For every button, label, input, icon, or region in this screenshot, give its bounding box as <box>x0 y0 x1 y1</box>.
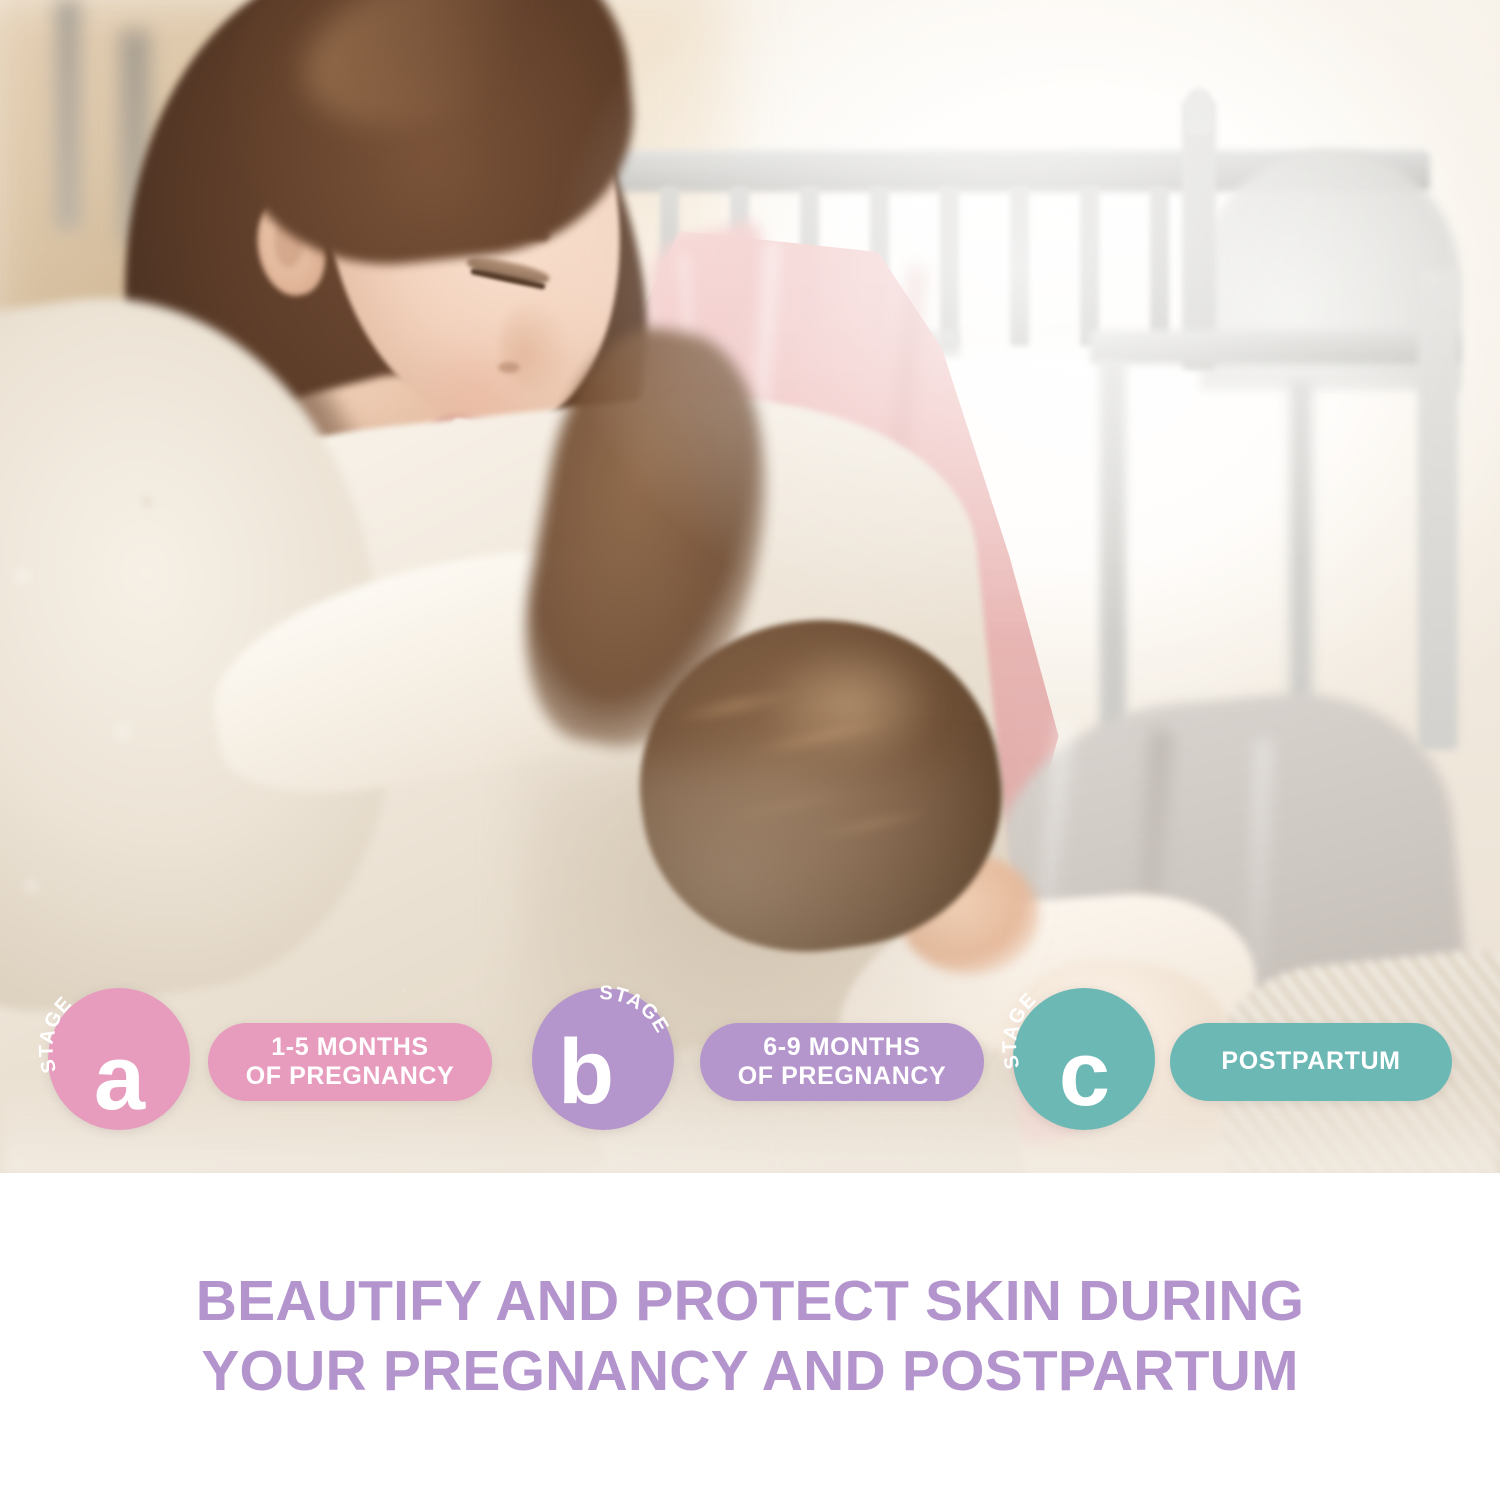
stage-b-letter: b <box>532 1026 674 1118</box>
stage-a-circle[interactable]: STAGE a <box>48 988 190 1130</box>
stage-a-pill[interactable]: 1-5 MONTHS OF PREGNANCY <box>208 1023 492 1101</box>
headline-line-2: YOUR PREGNANCY AND POSTPARTUM <box>201 1337 1298 1407</box>
stage-c-pill-line-1: POSTPARTUM <box>1221 1047 1400 1077</box>
stage-b-pill-line-1: 6-9 MONTHS <box>763 1033 920 1061</box>
stage-badge-row: STAGE a 1-5 MONTHS OF PREGNANCY STAGE <box>0 0 1500 1173</box>
headline-line-1: BEAUTIFY AND PROTECT SKIN DURING <box>196 1267 1304 1337</box>
stage-a-pill-line-2: OF PREGNANCY <box>246 1062 455 1090</box>
stage-b-circle[interactable]: STAGE b <box>532 988 674 1130</box>
stage-c-circle[interactable]: STAGE c <box>1013 988 1155 1130</box>
stage-b-pill-line-2: OF PREGNANCY <box>738 1062 947 1090</box>
promo-banner: STAGE a 1-5 MONTHS OF PREGNANCY STAGE <box>0 0 1500 1500</box>
headline-block: BEAUTIFY AND PROTECT SKIN DURING YOUR PR… <box>0 1173 1500 1500</box>
stage-b-pill[interactable]: 6-9 MONTHS OF PREGNANCY <box>700 1023 984 1101</box>
stage-c-pill[interactable]: POSTPARTUM <box>1170 1023 1452 1101</box>
stage-a-letter: a <box>48 1032 190 1124</box>
stage-c-letter: c <box>1013 1028 1155 1120</box>
stage-a-pill-line-1: 1-5 MONTHS <box>271 1033 428 1061</box>
